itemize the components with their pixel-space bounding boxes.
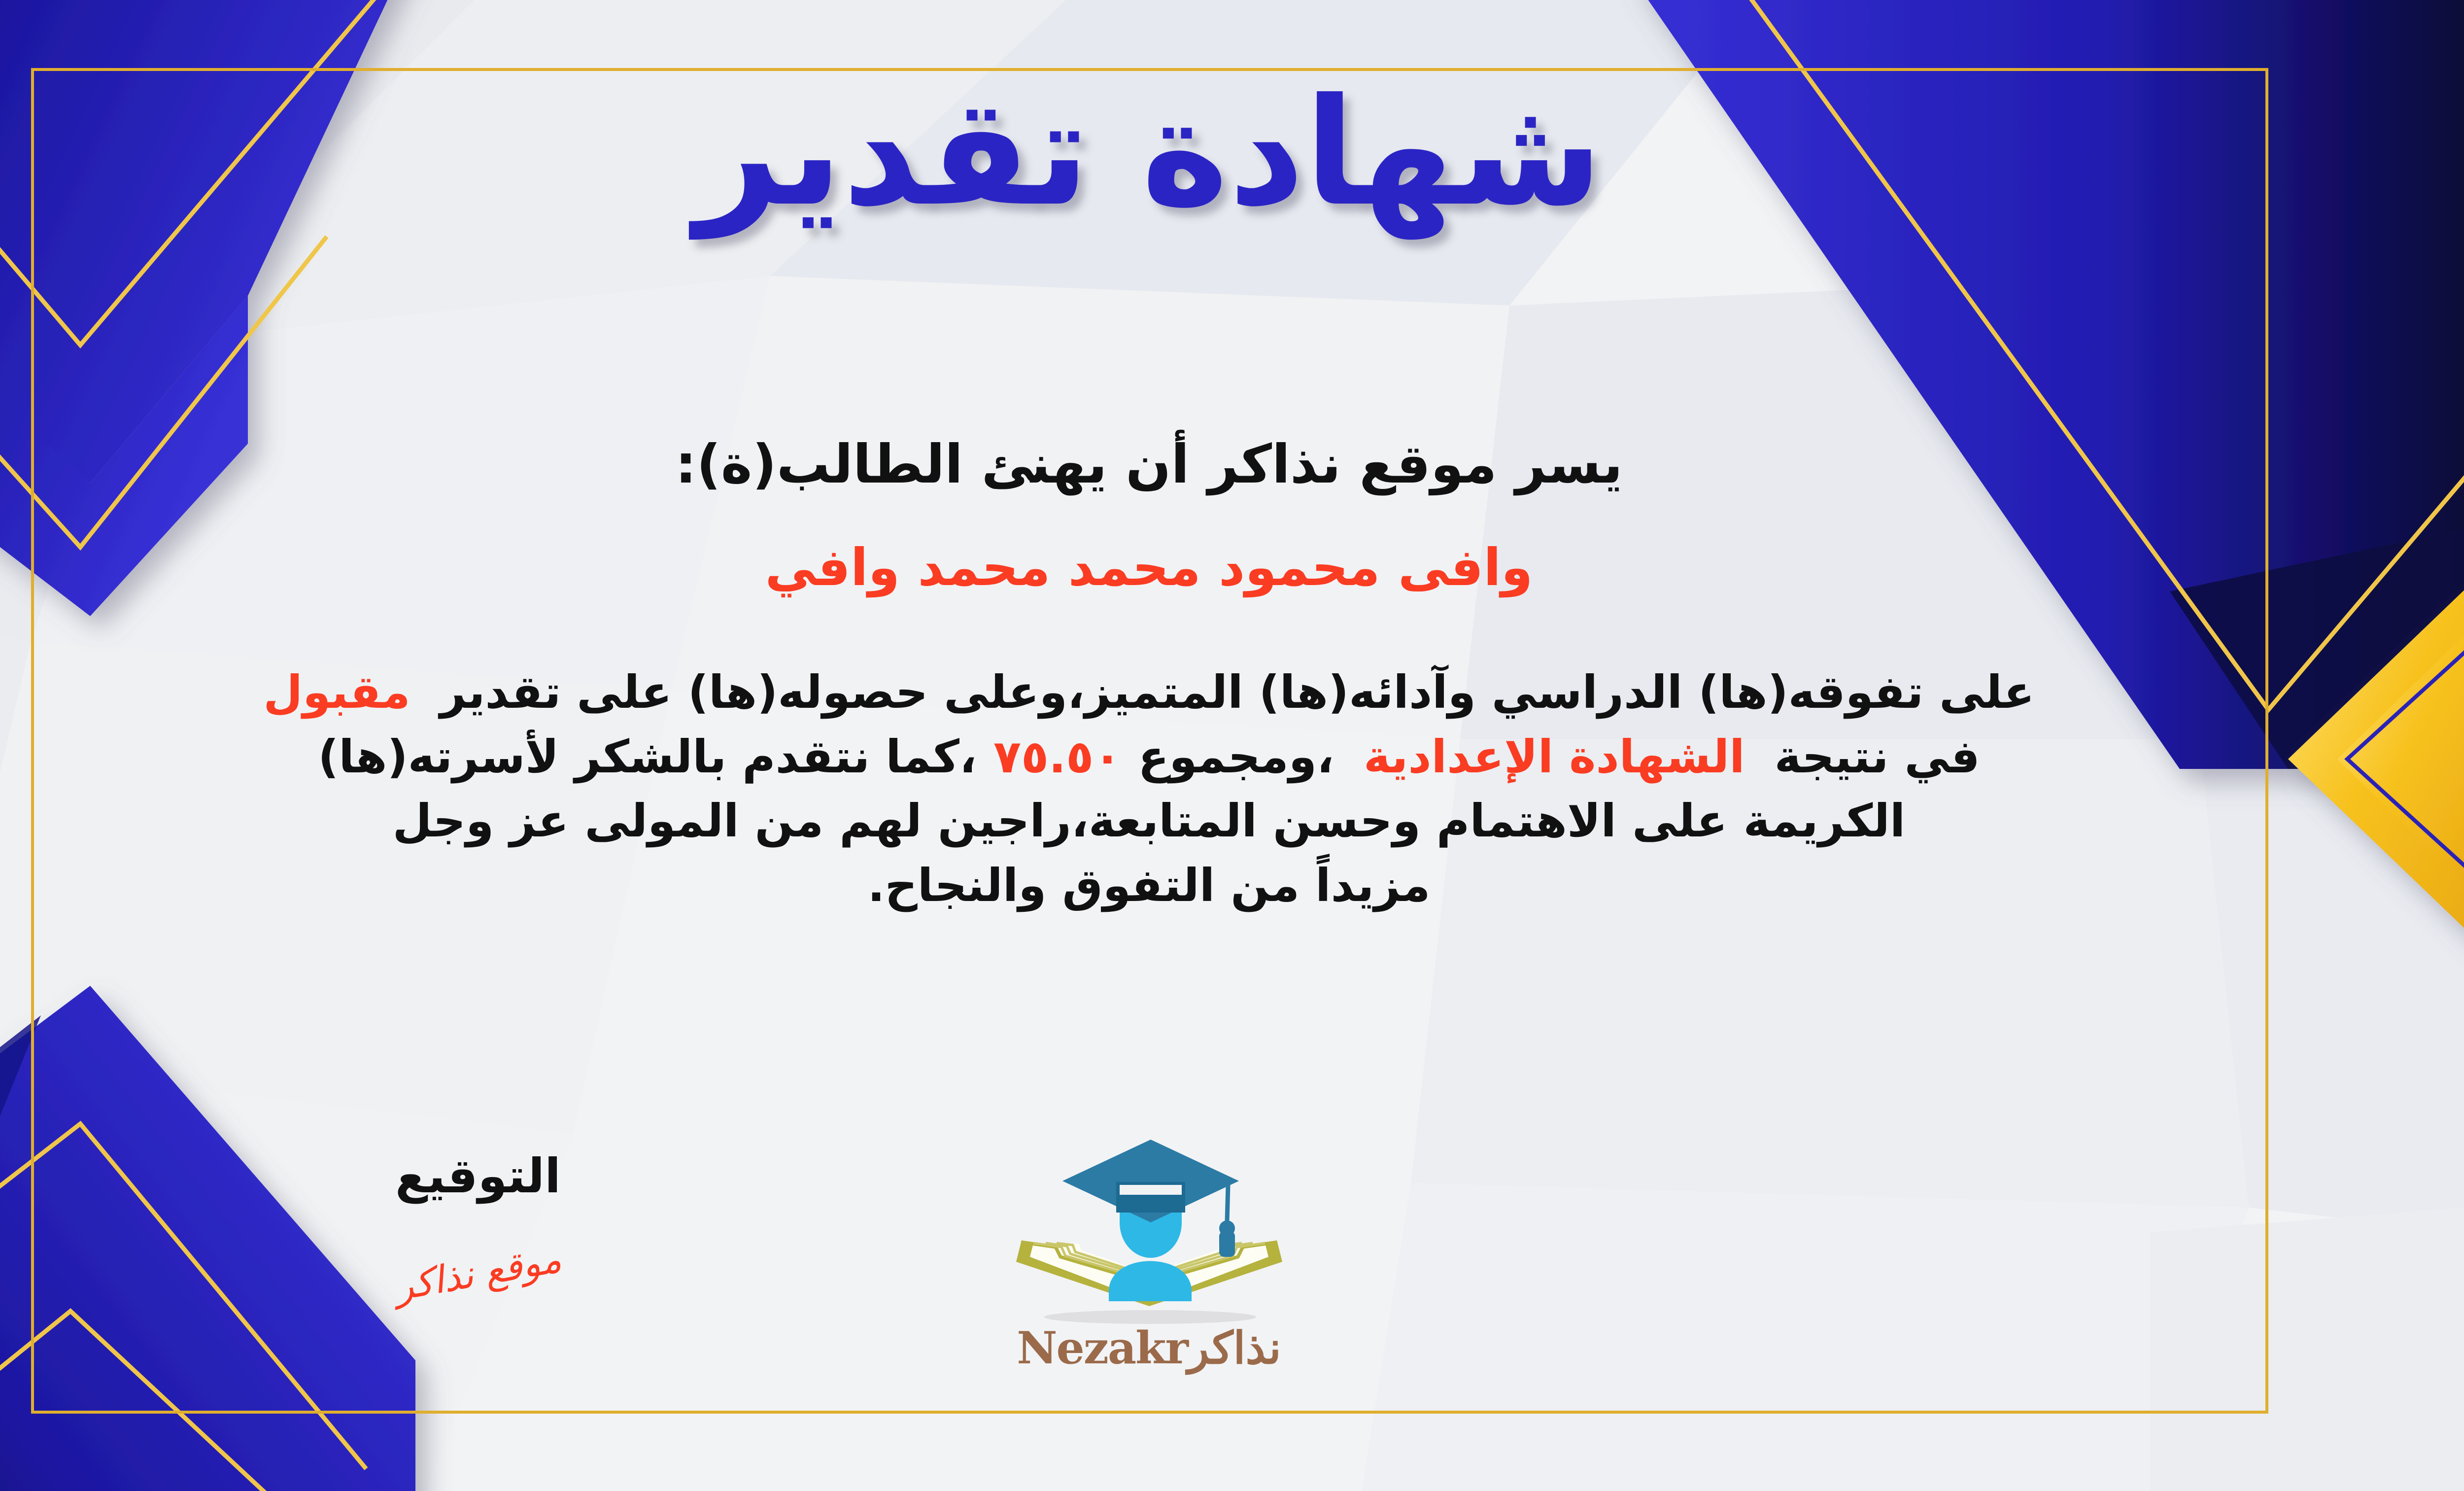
body-line-gratitude: الكريمة على الاهتمام وحسن المتابعة،راجين… xyxy=(16,789,2282,854)
achievement-text: على تفوقه(ها) الدراسي وآدائه(ها) المتميز… xyxy=(440,666,2035,719)
certificate-body: على تفوقه(ها) الدراسي وآدائه(ها) المتميز… xyxy=(16,660,2282,918)
signature-label: التوقيع xyxy=(325,1148,631,1204)
exam-name: الشهادة الإعدادية xyxy=(1364,730,1745,783)
certificate-title: شهادة تقدير xyxy=(0,79,2464,227)
score-value: ٧٥.٥٠ xyxy=(993,730,1122,783)
body-line-achievement: على تفوقه(ها) الدراسي وآدائه(ها) المتميز… xyxy=(16,660,2282,725)
brand-logo: نذاكرNezakr xyxy=(962,1134,1336,1374)
score-prefix: ،ومجموع xyxy=(1138,730,1334,783)
brand-name-arabic: نذاكر xyxy=(1188,1322,1281,1374)
graduate-on-book-icon xyxy=(996,1134,1302,1331)
student-name: وافى محمود محمد محمد وافي xyxy=(0,537,2464,597)
brand-name-latin: Nezakr xyxy=(1017,1322,1188,1374)
cap-tassel xyxy=(1219,1231,1235,1257)
brand-logo-text: نذاكرNezakr xyxy=(962,1322,1336,1374)
body-line-exam: في نتيجةالشهادة الإعدادية،ومجموع٧٥.٥٠،كم… xyxy=(16,725,2282,790)
body-line-closing: مزيداً من التفوق والنجاح. xyxy=(16,854,2282,918)
intro-line: يسر موقع نذاكر أن يهنئ الطالب(ة): xyxy=(0,434,2464,495)
cap-tassel-cord xyxy=(1227,1185,1228,1221)
thanks-prefix: ،كما نتقدم بالشكر لأسرته(ها) xyxy=(318,730,977,783)
grade-value: مقبول xyxy=(263,666,410,719)
exam-prefix: في نتيجة xyxy=(1775,730,1980,783)
signature-block: التوقيع موقع نذاكر xyxy=(325,1148,631,1295)
certificate-canvas: شهادة تقدير يسر موقع نذاكر أن يهنئ الطال… xyxy=(0,0,2464,1491)
